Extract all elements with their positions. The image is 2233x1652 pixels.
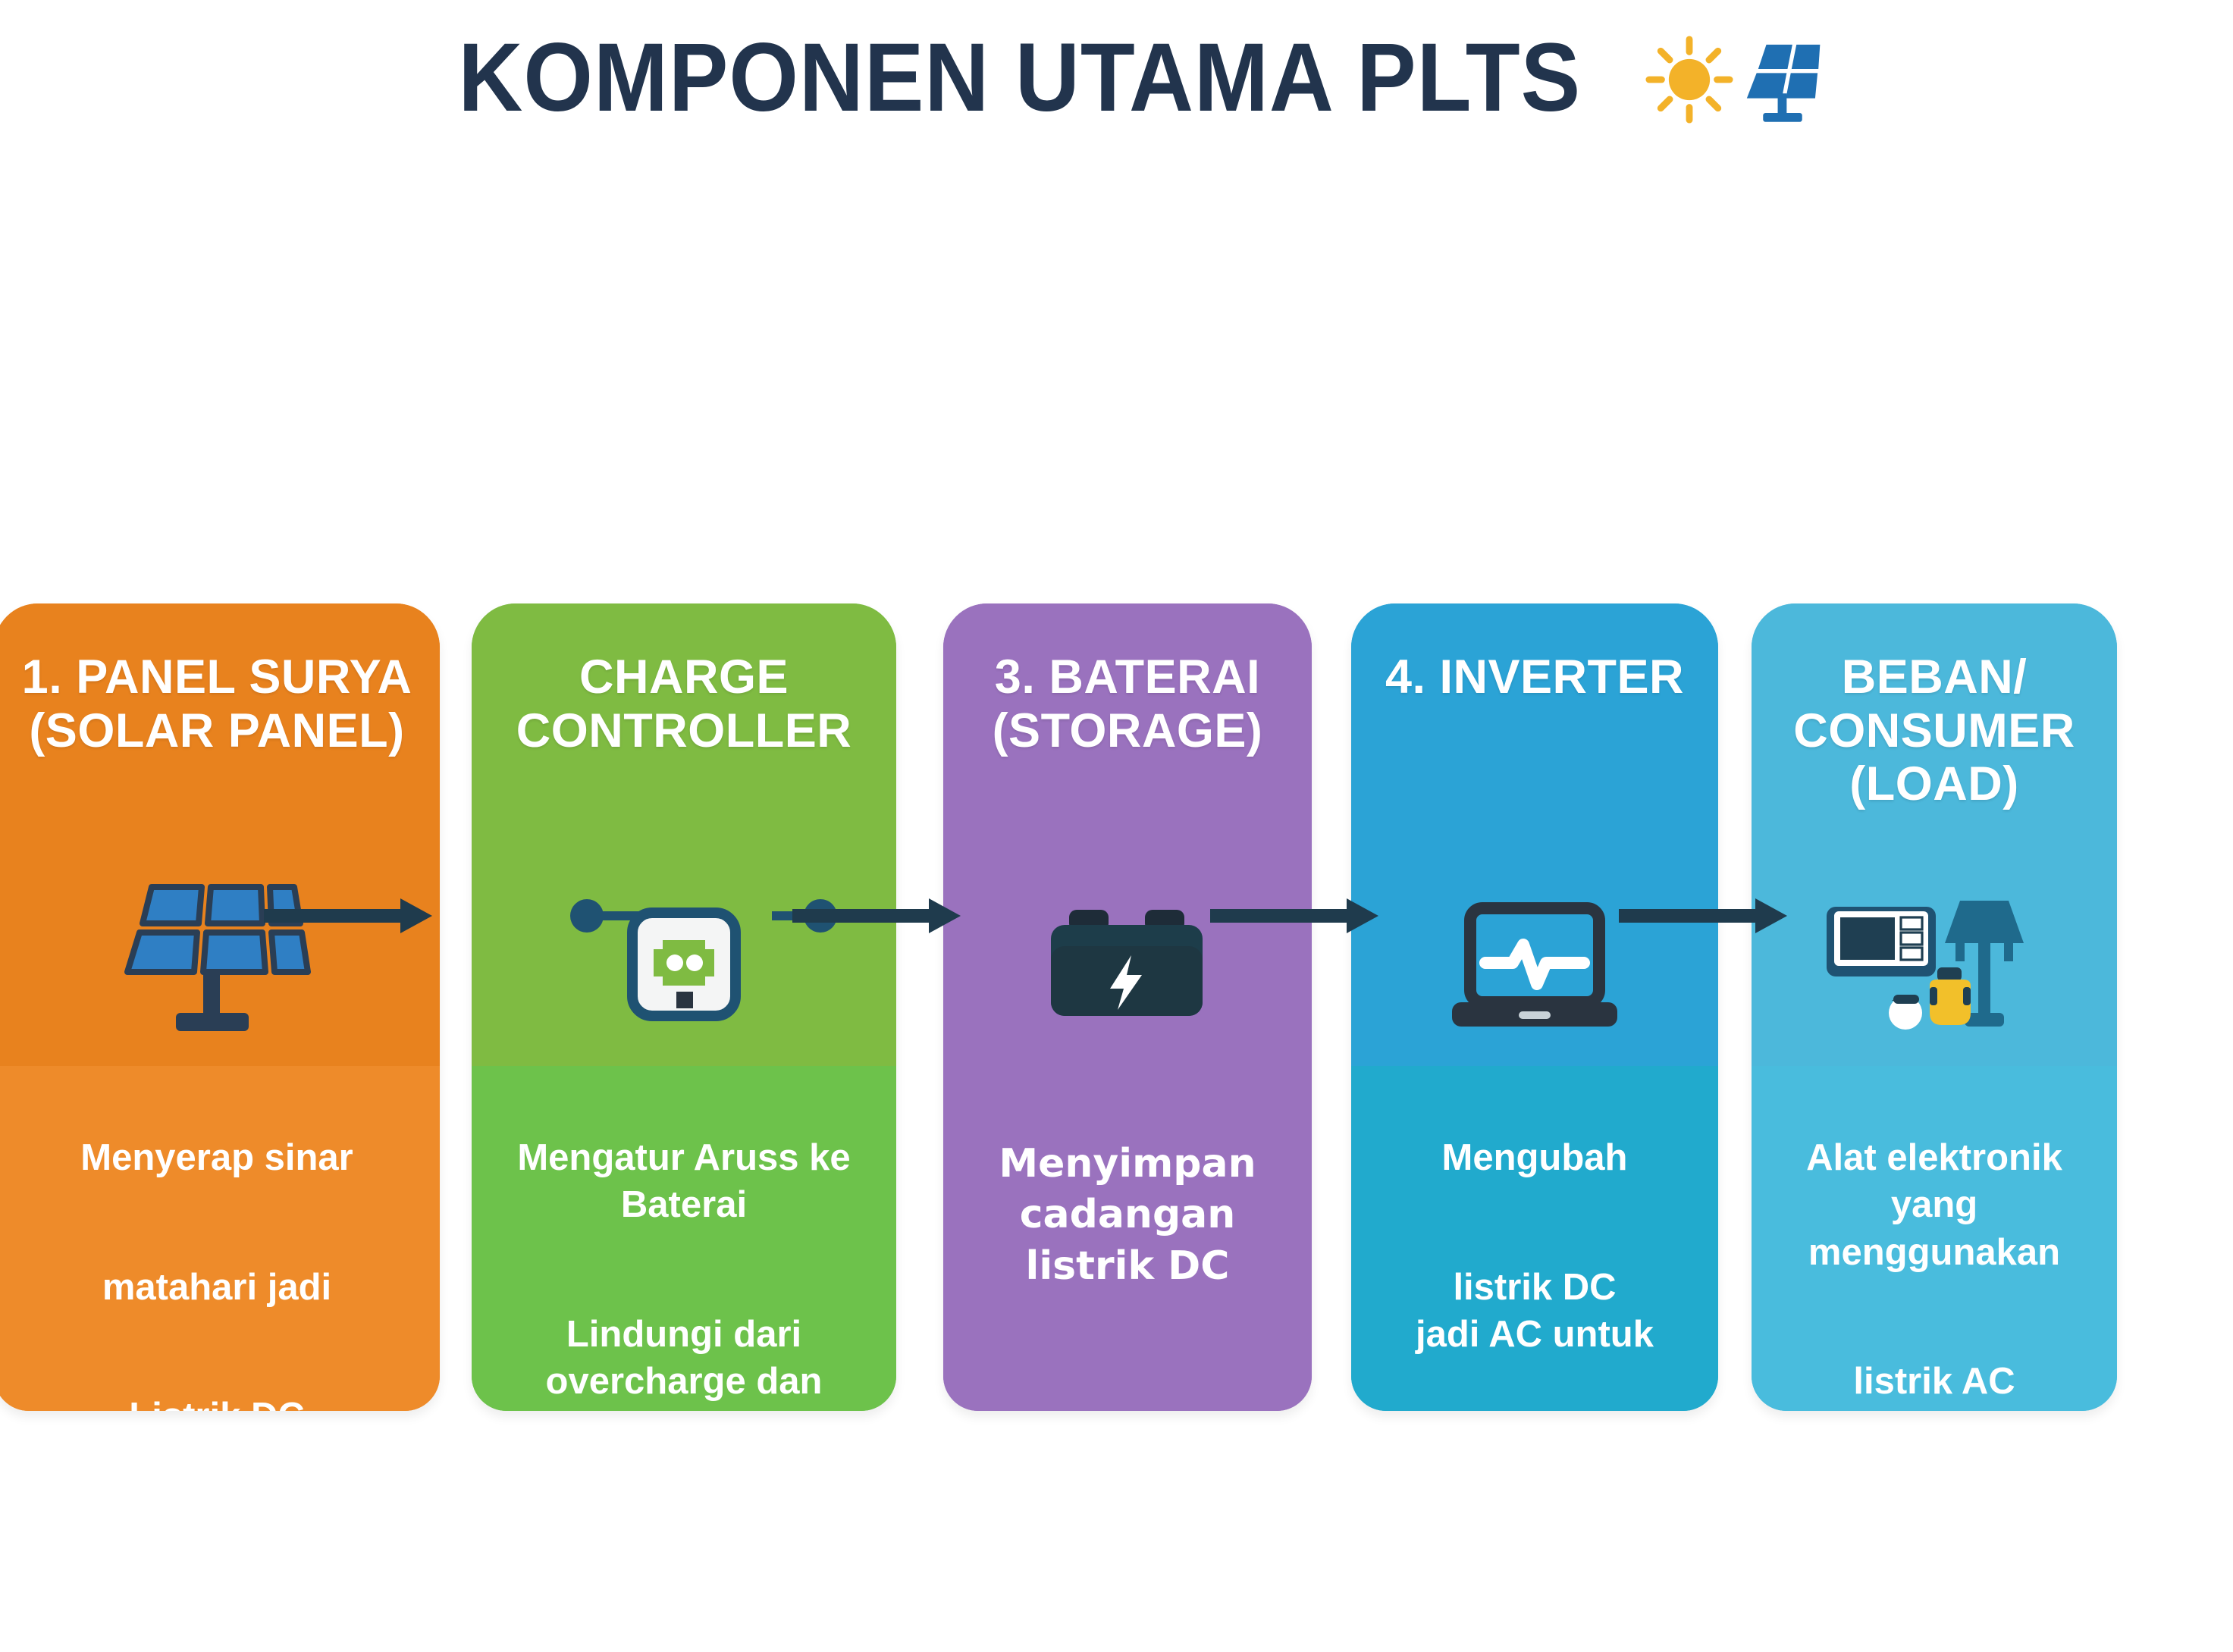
card-panel-surya-top: 1. PANEL SURYA (SOLAR PANEL) bbox=[0, 603, 440, 1066]
card-charge-controller-bottom: Mengatur Aruss ke Baterai Lindungi dari … bbox=[472, 1066, 896, 1411]
card-beban-consumer[interactable]: BEBAN/ CONSUMER (LOAD) bbox=[1752, 603, 2117, 1411]
card-body-line: Menyimpan cadangan listrik DC bbox=[963, 1139, 1292, 1293]
card-beban-consumer-body: Alat elektronik yang menggunakan listrik… bbox=[1752, 1087, 2117, 1411]
components-flow: 1. PANEL SURYA (SOLAR PANEL) bbox=[0, 603, 2233, 1418]
card-beban-consumer-bottom: Alat elektronik yang menggunakan listrik… bbox=[1752, 1066, 2117, 1411]
solar-panel-icon bbox=[0, 869, 440, 1040]
arrow-head bbox=[400, 898, 432, 933]
appliances-icon bbox=[1752, 889, 2117, 1040]
card-baterai-title: 3. BATERAI (STORAGE) bbox=[980, 650, 1275, 757]
arrow-controller-to-baterai bbox=[792, 898, 961, 933]
arrow-shaft bbox=[792, 909, 930, 923]
card-inverter-bottom: Mengubah listrik DC jadi AC untuk alat e… bbox=[1351, 1066, 1718, 1411]
card-charge-controller-title: CHARGE CONTROLLER bbox=[504, 650, 864, 757]
card-panel-surya-bottom: Menyerap sinar matahari jadi Listrik DC bbox=[0, 1066, 440, 1411]
card-charge-controller[interactable]: CHARGE CONTROLLER Mengatur Aruss ke Bate… bbox=[472, 603, 896, 1411]
connector-dot-left bbox=[570, 899, 604, 933]
card-body-line: listrik DC jadi AC untuk bbox=[1410, 1264, 1660, 1358]
card-body-line: matahari jadi bbox=[80, 1264, 353, 1311]
card-beban-consumer-title: BEBAN/ CONSUMER (LOAD) bbox=[1781, 650, 2087, 811]
card-charge-controller-top: CHARGE CONTROLLER bbox=[472, 603, 896, 1066]
card-body-line: Mengatur Aruss ke Baterai bbox=[491, 1134, 877, 1228]
connector-line-left bbox=[601, 911, 640, 920]
arrow-baterai-to-inverter bbox=[1210, 898, 1378, 933]
arrow-head bbox=[1347, 898, 1378, 933]
card-charge-controller-body: Mengatur Aruss ke Baterai Lindungi dari … bbox=[472, 1087, 896, 1411]
arrow-inverter-to-beban bbox=[1619, 898, 1787, 933]
arrow-shaft bbox=[1210, 909, 1348, 923]
card-body-line: Lindungi dari overcharge dan overload bbox=[491, 1311, 877, 1411]
page-header: KOMPONEN UTAMA PLTS bbox=[0, 6, 2233, 150]
card-body-line: listrik AC bbox=[1771, 1358, 2097, 1405]
card-body-line: Listrik DC bbox=[80, 1393, 353, 1411]
arrow-shaft bbox=[1619, 909, 1757, 923]
arrow-head bbox=[1755, 898, 1787, 933]
card-panel-surya-body: Menyerap sinar matahari jadi Listrik DC bbox=[61, 1087, 373, 1411]
arrow-panel-to-controller bbox=[264, 898, 432, 933]
arrow-shaft bbox=[264, 909, 402, 923]
card-panel-surya-title: 1. PANEL SURYA (SOLAR PANEL) bbox=[10, 650, 425, 757]
header-icon-group bbox=[1645, 35, 1824, 124]
card-beban-consumer-top: BEBAN/ CONSUMER (LOAD) bbox=[1752, 603, 2117, 1066]
card-body-line: Mengubah bbox=[1410, 1134, 1660, 1181]
card-panel-surya[interactable]: 1. PANEL SURYA (SOLAR PANEL) bbox=[0, 603, 440, 1411]
card-inverter-body: Mengubah listrik DC jadi AC untuk alat e… bbox=[1390, 1087, 1679, 1411]
solar-panel-icon bbox=[1742, 35, 1824, 124]
card-inverter-title: 4. INVERTER bbox=[1373, 650, 1696, 704]
card-body-line: Alat elektronik yang menggunakan bbox=[1771, 1134, 2097, 1276]
card-inverter[interactable]: 4. INVERTER Mengubah listrik DC jadi AC … bbox=[1351, 603, 1718, 1411]
card-baterai-body: Menyimpan cadangan listrik DC bbox=[943, 1087, 1312, 1343]
sun-icon bbox=[1645, 35, 1734, 124]
page-title: KOMPONEN UTAMA PLTS bbox=[458, 30, 1581, 127]
card-inverter-top: 4. INVERTER bbox=[1351, 603, 1718, 1066]
card-baterai-top: 3. BATERAI (STORAGE) bbox=[943, 603, 1312, 1066]
card-baterai[interactable]: 3. BATERAI (STORAGE) Menyimpan cadangan … bbox=[943, 603, 1312, 1411]
card-baterai-bottom: Menyimpan cadangan listrik DC bbox=[943, 1066, 1312, 1411]
card-body-line: Menyerap sinar bbox=[80, 1134, 353, 1181]
arrow-head bbox=[929, 898, 961, 933]
